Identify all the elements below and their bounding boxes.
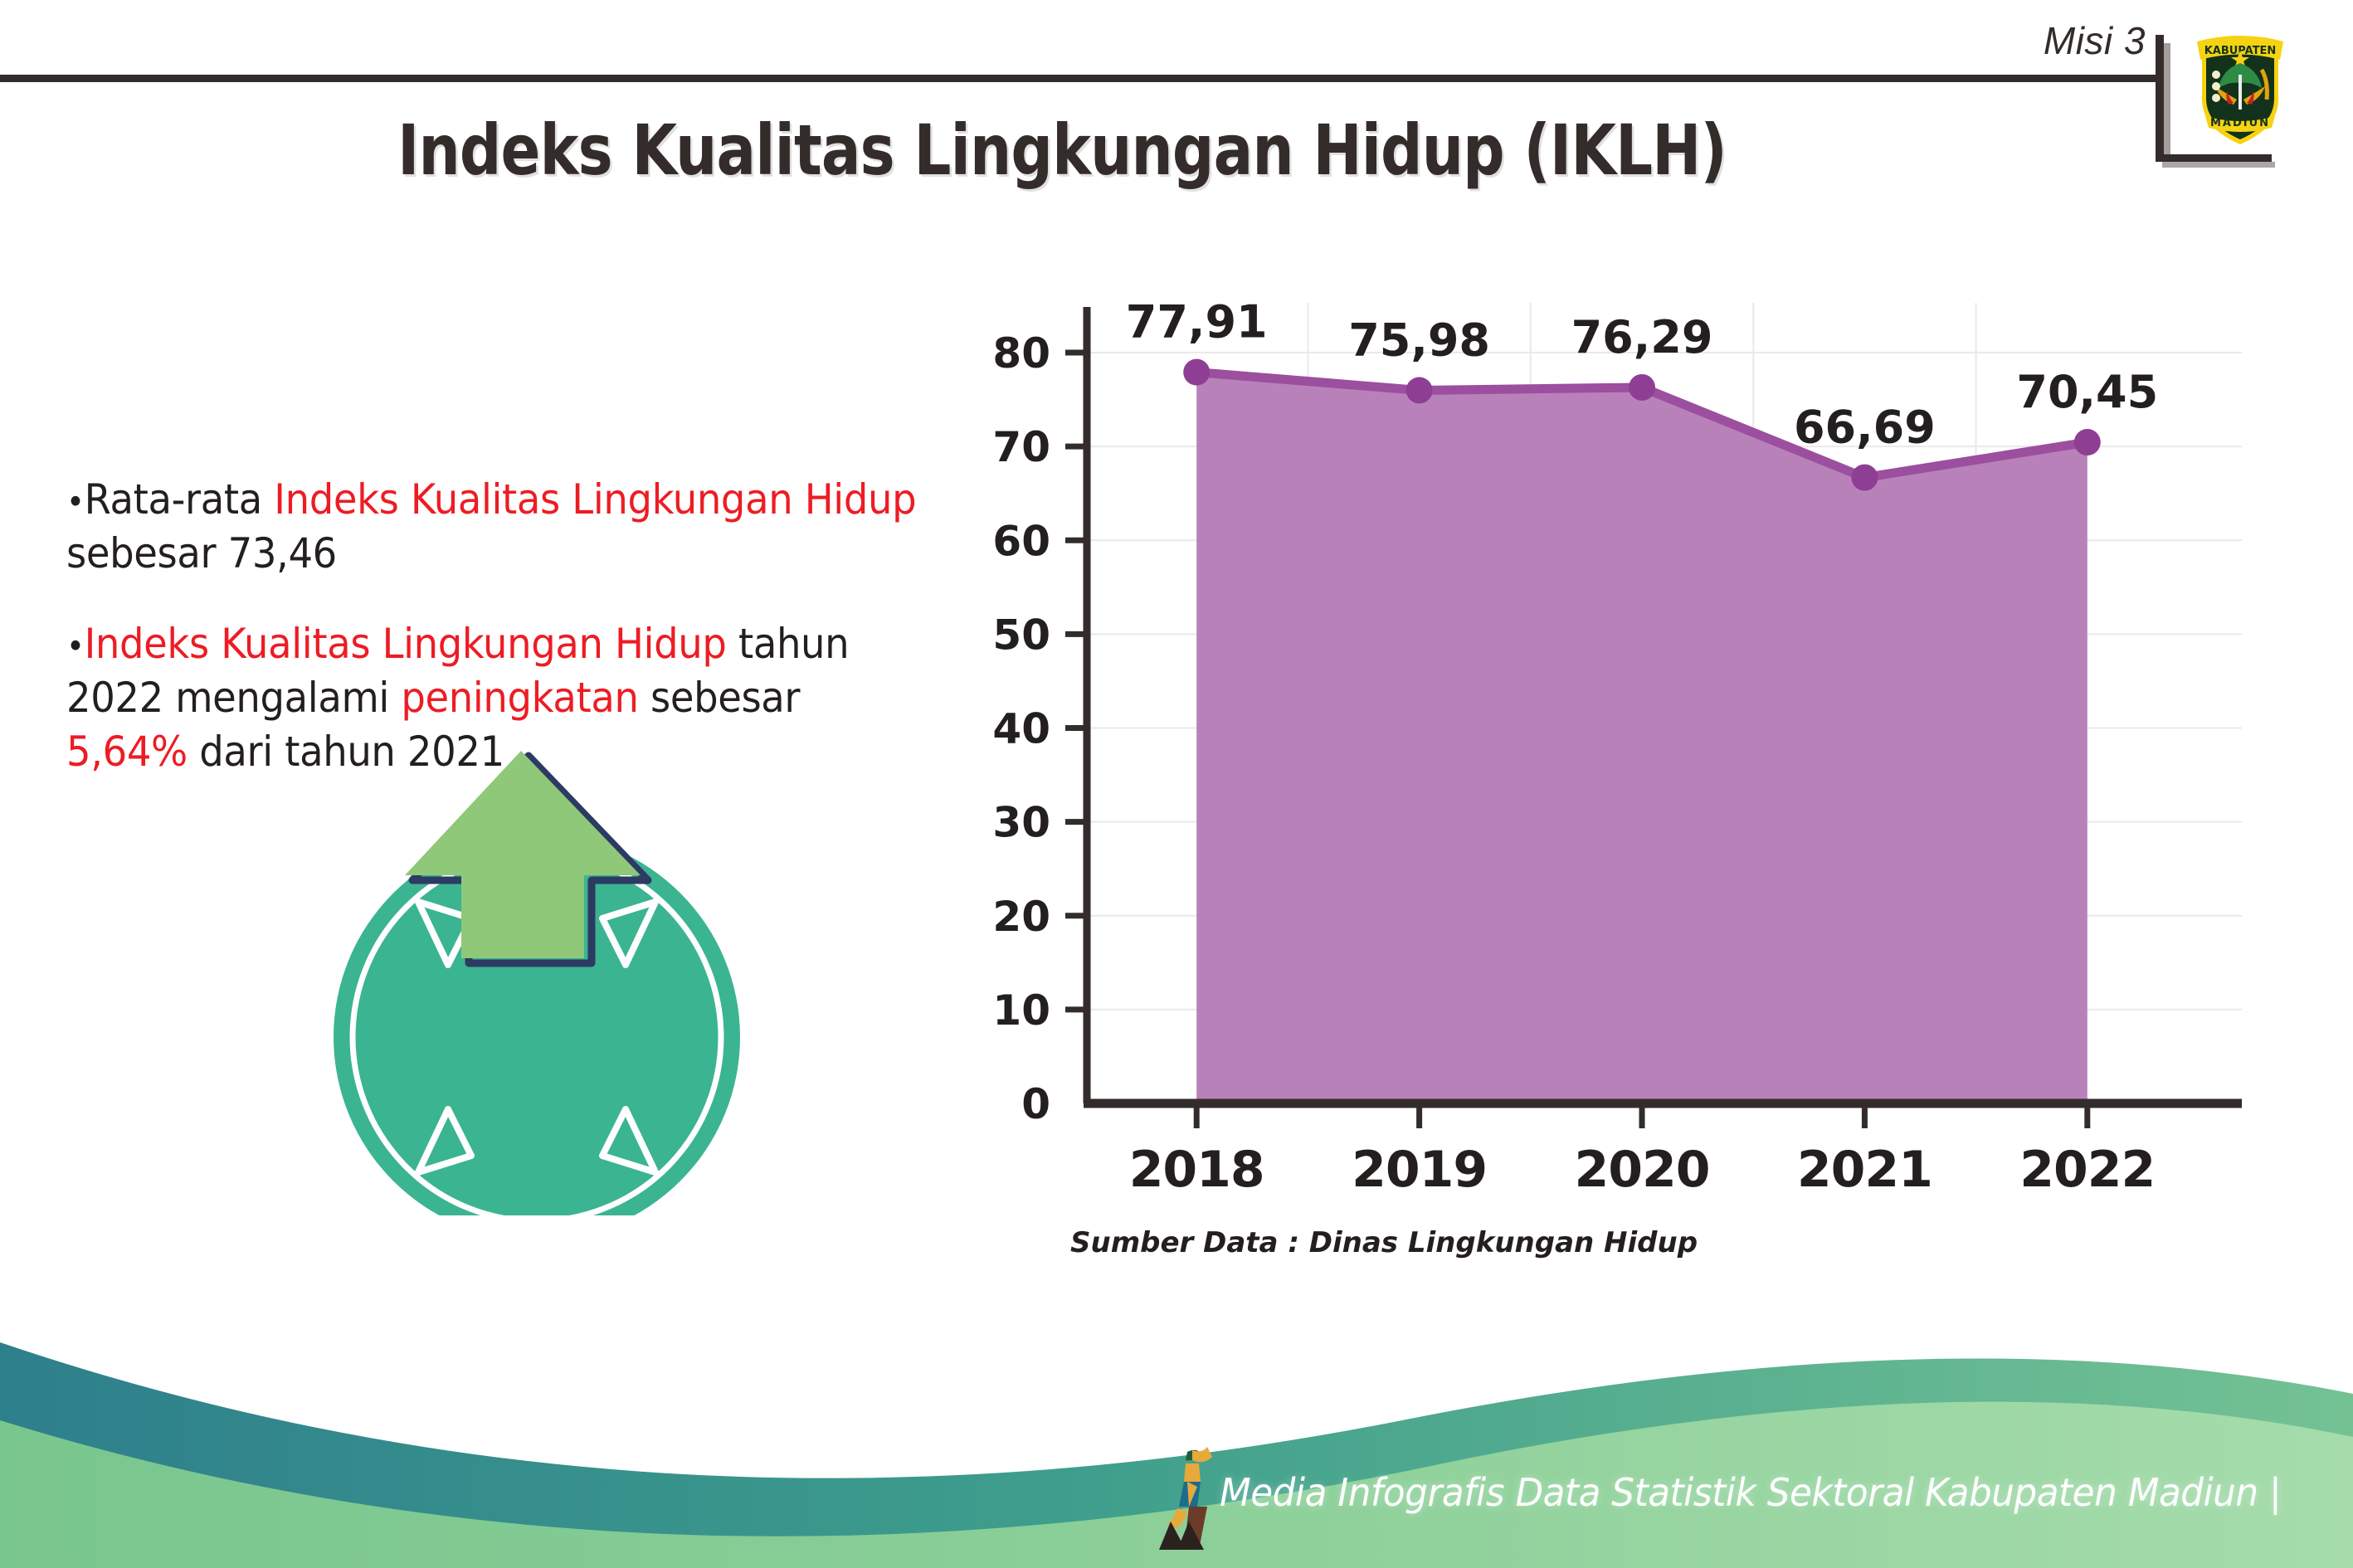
data-point-marker — [1183, 359, 1210, 386]
header-corner-bracket-shadow — [2164, 43, 2170, 161]
y-axis-tick-label: 20 — [992, 893, 1050, 941]
x-axis-tick-label: 2018 — [1129, 1141, 1264, 1199]
data-point-label: 70,45 — [2016, 366, 2158, 418]
svg-text:MADIUN: MADIUN — [2210, 117, 2270, 129]
y-axis-tick-label: 80 — [992, 329, 1050, 377]
data-point-label: 76,29 — [1571, 311, 1713, 363]
infographic-page: Misi 3 KABUPATEN MADIUN Indeks Kualitas … — [0, 0, 2353, 1568]
area-fill — [1196, 373, 2087, 1103]
data-point-marker — [1629, 374, 1655, 401]
data-point-marker — [2074, 429, 2101, 455]
bullet-seg-highlight: Indeks Kualitas Lingkungan Hidup — [85, 620, 727, 668]
bullet-seg: sebesar — [639, 674, 801, 722]
kabupaten-madiun-crest-icon: KABUPATEN MADIUN — [2190, 23, 2290, 148]
y-axis-tick-label: 30 — [992, 799, 1050, 847]
y-axis-tick-label: 60 — [992, 517, 1050, 565]
statistik-figure-logo-icon — [1149, 1445, 1228, 1557]
mission-label: Misi 3 — [2044, 18, 2146, 63]
y-axis-tick-label: 50 — [992, 611, 1050, 659]
header-corner-bracket-foot-shadow — [2162, 162, 2275, 168]
header-divider-line — [0, 75, 2164, 82]
bullet-seg-highlight: Indeks Kualitas Lingkungan Hidup — [274, 475, 916, 523]
data-point-marker — [1406, 377, 1433, 403]
bullet-seg-highlight: 5,64% — [66, 728, 188, 776]
y-axis-tick-label: 70 — [992, 423, 1050, 471]
y-axis-tick-label: 10 — [992, 986, 1050, 1035]
bullet-seg: Rata-rata — [85, 475, 275, 523]
x-axis-tick-label: 2022 — [2019, 1141, 2155, 1199]
iklh-area-chart: 77,9175,9876,2966,6970,45010203040506070… — [987, 274, 2282, 1203]
header-corner-bracket-foot — [2156, 154, 2272, 162]
x-axis-tick-label: 2021 — [1797, 1141, 1932, 1199]
data-point-label: 75,98 — [1348, 314, 1490, 366]
bullet-seg-highlight: peningkatan — [401, 674, 638, 722]
data-point-label: 66,69 — [1794, 402, 1936, 454]
bullet-seg: sebesar 73,46 — [66, 529, 337, 577]
x-axis-tick-label: 2019 — [1352, 1141, 1487, 1199]
page-title: Indeks Kualitas Lingkungan Hidup (IKLH) — [170, 110, 1954, 191]
chart-canvas: 77,9175,9876,2966,6970,45010203040506070… — [987, 274, 2282, 1203]
chart-source-note: Sumber Data : Dinas Lingkungan Hidup — [1070, 1226, 1698, 1259]
data-point-marker — [1851, 465, 1878, 491]
y-axis-tick-label: 0 — [1021, 1080, 1050, 1128]
data-point-label: 77,91 — [1126, 296, 1268, 348]
bullet-marker: • — [66, 628, 85, 666]
list-item: •Rata-rata Indeks Kualitas Lingkungan Hi… — [66, 473, 923, 581]
badge-graphic — [309, 751, 773, 1215]
x-axis-tick-label: 2020 — [1575, 1141, 1710, 1199]
bullet-marker: • — [66, 484, 85, 522]
increase-badge: 10,5% — [309, 751, 773, 1215]
header-corner-bracket — [2156, 35, 2164, 161]
y-axis-tick-label: 40 — [992, 705, 1050, 753]
footer-caption: Media Infografis Data Statistik Sektoral… — [1220, 1470, 2281, 1515]
bullet-list: •Rata-rata Indeks Kualitas Lingkungan Hi… — [66, 473, 987, 779]
